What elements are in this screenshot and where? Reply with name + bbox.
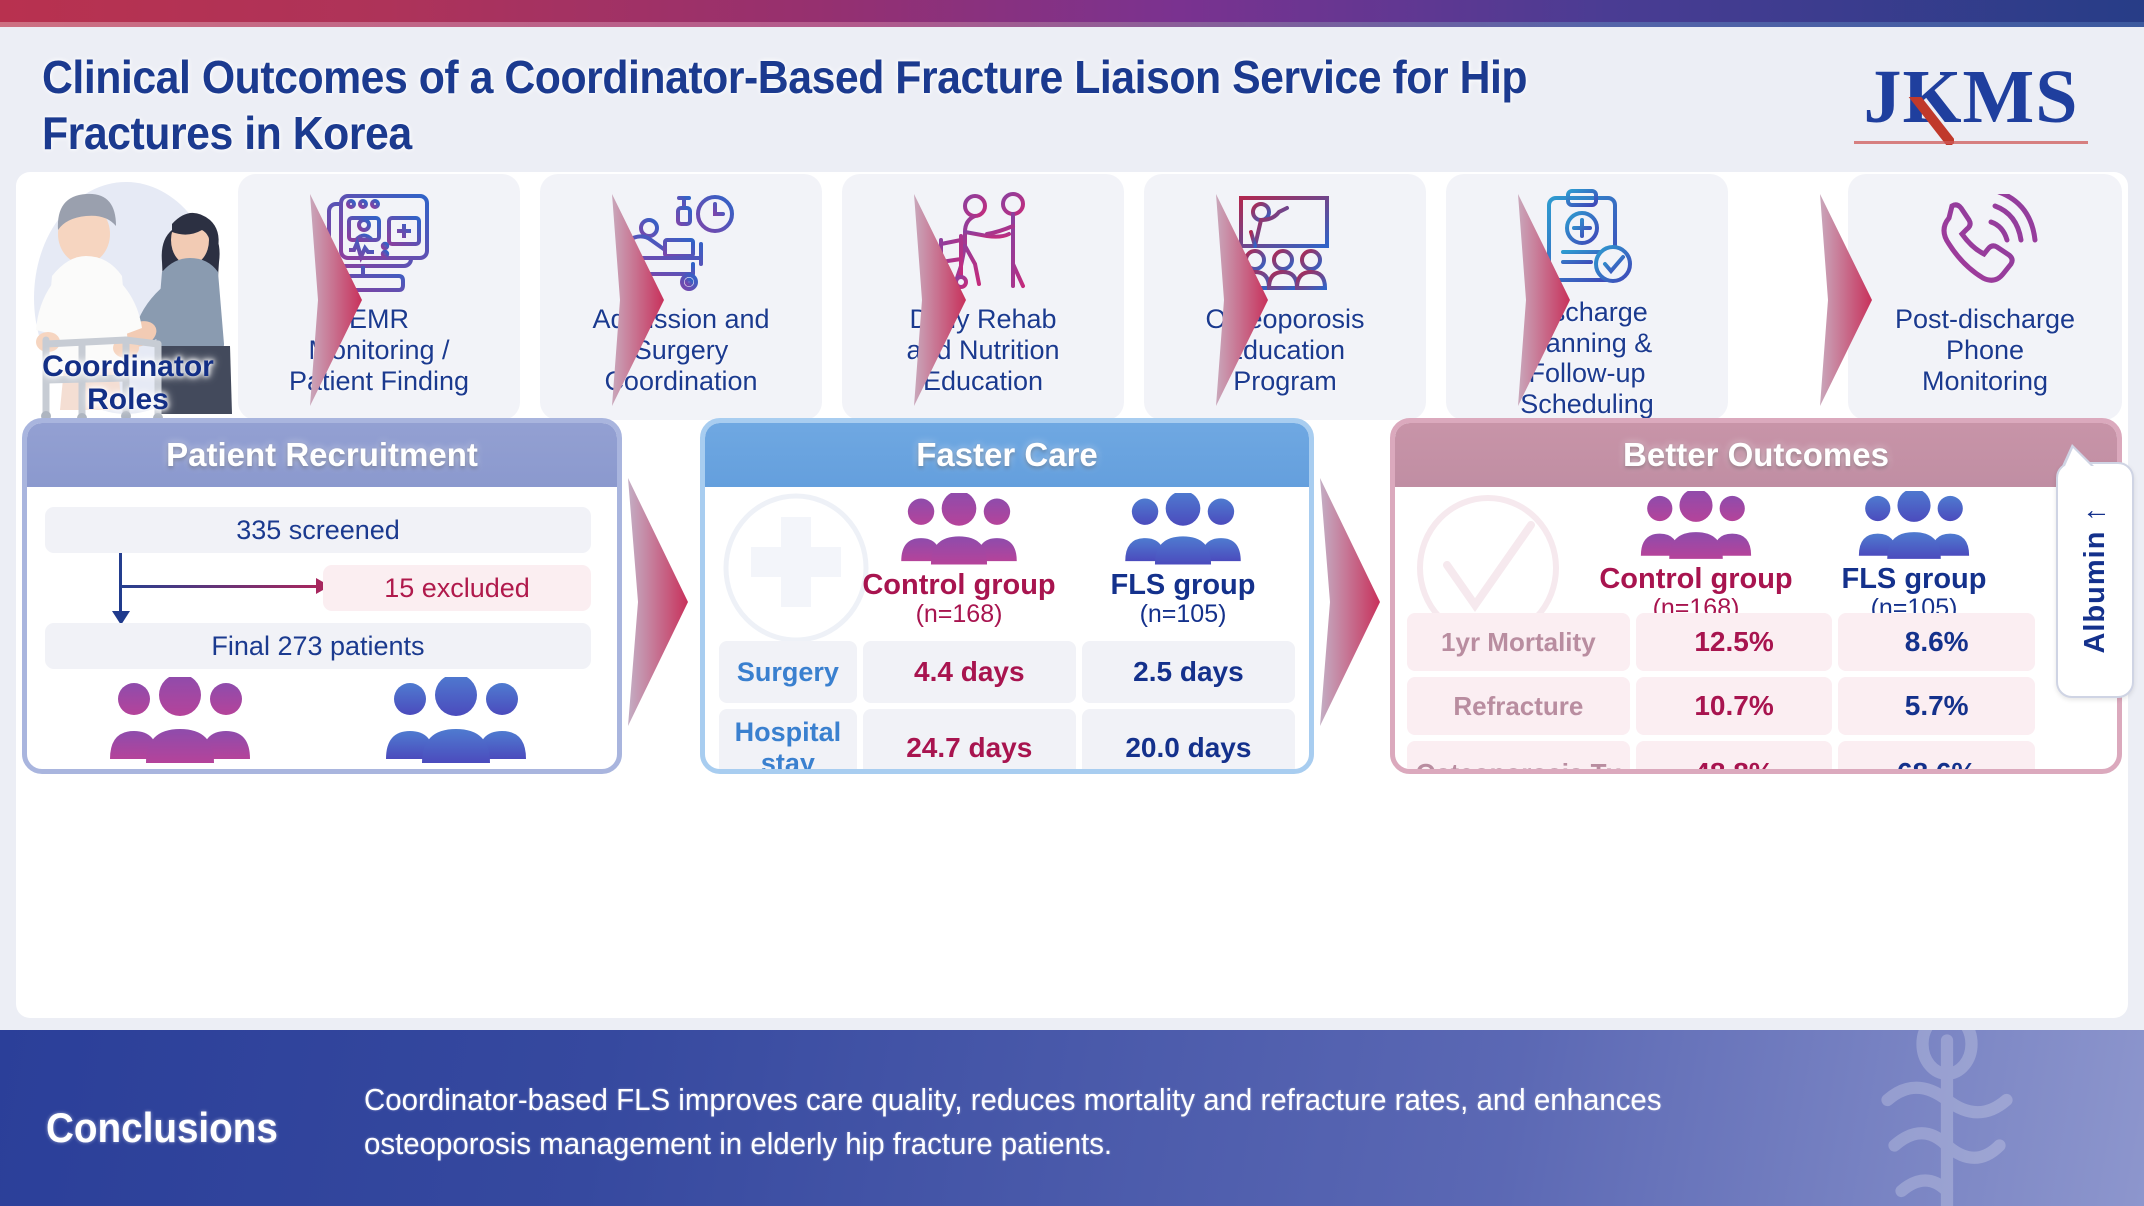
flow-step-label: Admission andSurgeryCoordination (540, 304, 822, 396)
row-label: Hospital stay (719, 709, 857, 774)
flow-chevron-2 (610, 194, 666, 406)
jkms-logo: JKMS (1846, 53, 2096, 151)
group-control-outcomes: Control group (n=168) (1581, 491, 1811, 622)
group-name: Control group (851, 570, 1067, 601)
flow-arrow-down (119, 553, 122, 613)
table-row: Hospital stay 24.7 days 20.0 days (719, 709, 1295, 774)
people-group-icon-fls (376, 677, 536, 763)
panel-title: Better Outcomes (1395, 423, 2117, 487)
group-name: Control group (1581, 564, 1811, 595)
row-label: Surgery (719, 641, 857, 703)
flow-step-discharge-planning[interactable]: DischargePlanning &Follow-upScheduling (1446, 174, 1728, 420)
panel-better-outcomes: Better Outcomes (1390, 418, 2122, 774)
row-value-control: 24.7 days (863, 709, 1076, 774)
panel-title: Patient Recruitment (27, 423, 617, 487)
panel-body: Control group (n=168) FLS group (1395, 487, 2117, 769)
results-chevron-2 (1318, 478, 1374, 726)
flow-step-label: OsteoporosisEducationProgram (1144, 304, 1426, 396)
people-group-icon-fls (1117, 493, 1249, 565)
panel-patient-recruitment: Patient Recruitment 335 screened 15 excl… (22, 418, 622, 774)
coordinator-roles-label: CoordinatorRoles (22, 351, 234, 416)
row-label: Osteoporosis Tx (1407, 741, 1630, 774)
flow-chevron-1 (308, 194, 364, 406)
albumin-callout-text: Albumin ↑ (2079, 506, 2112, 654)
group-fls-outcomes: FLS group (n=105) (1807, 491, 2021, 622)
rod-of-asclepius-watermark (1842, 1030, 2052, 1206)
top-accent-bar (0, 0, 2144, 22)
jkms-logo-rule (1854, 141, 2088, 144)
conclusions-text: Coordinator-based FLS improves care qual… (364, 1078, 1713, 1166)
row-label: Refracture (1407, 677, 1630, 735)
flow-chevron-5 (1516, 194, 1572, 406)
conclusions-label: Conclusions (46, 1104, 278, 1152)
group-control-faster-care: Control group (n=168) (851, 493, 1067, 628)
people-group-icon-control (893, 493, 1025, 565)
results-chevron-1 (626, 478, 682, 726)
coordinator-workflow-row: CoordinatorRoles (16, 172, 2128, 422)
conclusions-bar: Conclusions Coordinator-based FLS improv… (0, 1030, 2144, 1206)
table-row: Surgery 4.4 days 2.5 days (719, 641, 1295, 703)
row-value-fls: 20.0 days (1082, 709, 1295, 774)
panel-title: Faster Care (705, 423, 1309, 487)
group-name: Control group (55, 768, 305, 774)
flow-step-label: Post-dischargePhoneMonitoring (1848, 304, 2122, 396)
better-outcomes-table: 1yr Mortality 12.5% 8.6% Refracture 10.7… (1401, 607, 2041, 774)
group-name: FLS group (1807, 564, 2021, 595)
flow-chevron-3 (912, 194, 968, 406)
phone-call-icon (1925, 188, 2045, 300)
row-value-fls: 8.6% (1838, 613, 2035, 671)
flow-step-label: Daily Rehaband NutritionEducation (842, 304, 1124, 396)
people-group-icon-control (1633, 491, 1759, 559)
flow-step-label: DischargePlanning &Follow-upScheduling (1446, 297, 1728, 420)
coordinator-roles-tile: CoordinatorRoles (22, 172, 234, 422)
table-row: Refracture 10.7% 5.7% (1407, 677, 2035, 735)
page-header: Clinical Outcomes of a Coordinator-Based… (0, 27, 2144, 166)
excluded-count-box: 15 excluded (323, 565, 591, 611)
row-value-fls: 2.5 days (1082, 641, 1295, 703)
people-group-icon-control (100, 677, 260, 763)
row-value-fls: 68.6% (1838, 741, 2035, 774)
panel-faster-care: Faster Care (700, 418, 1314, 774)
group-fls-faster-care: FLS group (n=105) (1075, 493, 1291, 628)
medical-cross-watermark (721, 493, 871, 643)
panel-body: 335 screened 15 excluded Final 273 patie… (27, 487, 617, 769)
row-value-control: 48.8% (1636, 741, 1833, 774)
flow-step-osteoporosis-education[interactable]: OsteoporosisEducationProgram (1144, 174, 1426, 420)
group-count: (n=105) (1075, 601, 1291, 629)
group-control-recruitment: Control group (n=168) (55, 677, 305, 774)
row-value-control: 4.4 days (863, 641, 1076, 703)
page-title: Clinical Outcomes of a Coordinator-Based… (42, 49, 1567, 161)
row-value-control: 12.5% (1636, 613, 1833, 671)
panel-body: Control group (n=168) FLS group (705, 487, 1309, 769)
flow-step-phone-monitoring[interactable]: Post-dischargePhoneMonitoring (1848, 174, 2122, 420)
row-label: 1yr Mortality (1407, 613, 1630, 671)
row-value-control: 10.7% (1636, 677, 1833, 735)
flow-step-label: EMRMonitoring /Patient Finding (238, 304, 520, 396)
flow-step-daily-rehab[interactable]: Daily Rehaband NutritionEducation (842, 174, 1124, 420)
faster-care-table: Surgery 4.4 days 2.5 days Hospital stay … (713, 635, 1301, 774)
jkms-logo-text: JKMS (1846, 53, 2096, 141)
final-count-box: Final 273 patients (45, 623, 591, 669)
screened-count-box: 335 screened (45, 507, 591, 553)
flow-chevron-6 (1818, 194, 1874, 406)
group-name: FLS group (331, 768, 581, 774)
table-row: 1yr Mortality 12.5% 8.6% (1407, 613, 2035, 671)
main-content-card: CoordinatorRoles (16, 172, 2128, 1018)
table-row: Osteoporosis Tx 48.8% 68.6% (1407, 741, 2035, 774)
flow-step-emr-monitoring[interactable]: EMRMonitoring /Patient Finding (238, 174, 520, 420)
row-value-fls: 5.7% (1838, 677, 2035, 735)
group-fls-recruitment: FLS group (n=105) (331, 677, 581, 774)
albumin-callout-bubble: Albumin ↑ (2056, 462, 2134, 698)
flow-step-admission-surgery[interactable]: Admission andSurgeryCoordination (540, 174, 822, 420)
people-group-icon-fls (1851, 491, 1977, 559)
flow-arrow-right (121, 585, 317, 588)
results-row: Patient Recruitment 335 screened 15 excl… (16, 418, 2128, 778)
group-name: FLS group (1075, 570, 1291, 601)
group-count: (n=168) (851, 601, 1067, 629)
flow-chevron-4 (1214, 194, 1270, 406)
